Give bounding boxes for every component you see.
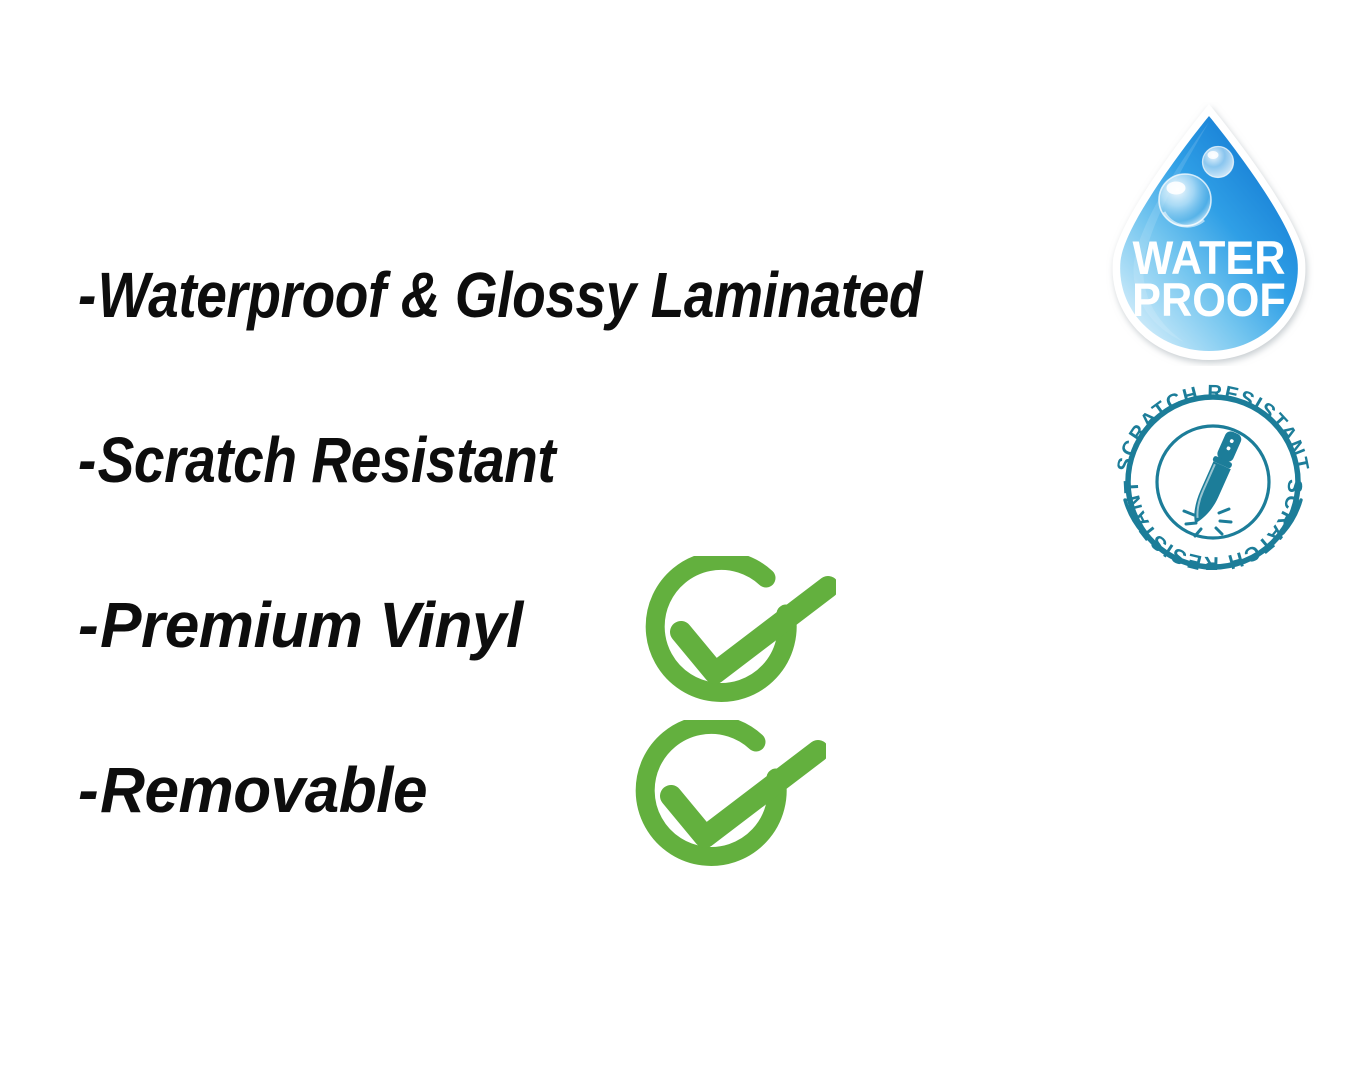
waterproof-line-2: PROOF — [1132, 273, 1286, 326]
waterproof-drop-badge: WATER PROOF — [1104, 102, 1314, 366]
feature-bullet-dash: - — [78, 263, 96, 327]
water-bubble-small — [1203, 147, 1234, 178]
feature-bullet-dash: - — [78, 428, 96, 492]
feature-bullet-dash: - — [78, 593, 98, 657]
feature-line-waterproof: -Waterproof & Glossy Laminated — [78, 263, 922, 327]
feature-label: Scratch Resistant — [98, 424, 556, 496]
water-bubble-large-highlight — [1167, 182, 1186, 195]
product-features-graphic: -Waterproof & Glossy Laminated -Scratch … — [0, 0, 1359, 1080]
feature-line-premium-vinyl: -Premium Vinyl — [78, 593, 523, 657]
feature-bullet-dash: - — [78, 758, 98, 822]
water-bubble-small-highlight — [1208, 151, 1219, 159]
check-mark — [671, 751, 818, 837]
knife-icon — [1186, 429, 1245, 528]
feature-line-removable: -Removable — [78, 758, 427, 822]
check-mark — [681, 587, 828, 673]
green-check-circle-icon — [630, 720, 826, 880]
green-check-circle-icon — [640, 556, 836, 716]
feature-label: Removable — [100, 754, 427, 826]
feature-label: Premium Vinyl — [100, 589, 523, 661]
feature-label: Waterproof & Glossy Laminated — [98, 259, 922, 331]
feature-line-scratch-resistant: -Scratch Resistant — [78, 428, 555, 492]
scratch-resistant-stamp-badge: SCRATCH RESISTANT SCRATCH RESISTANT — [1112, 382, 1314, 570]
